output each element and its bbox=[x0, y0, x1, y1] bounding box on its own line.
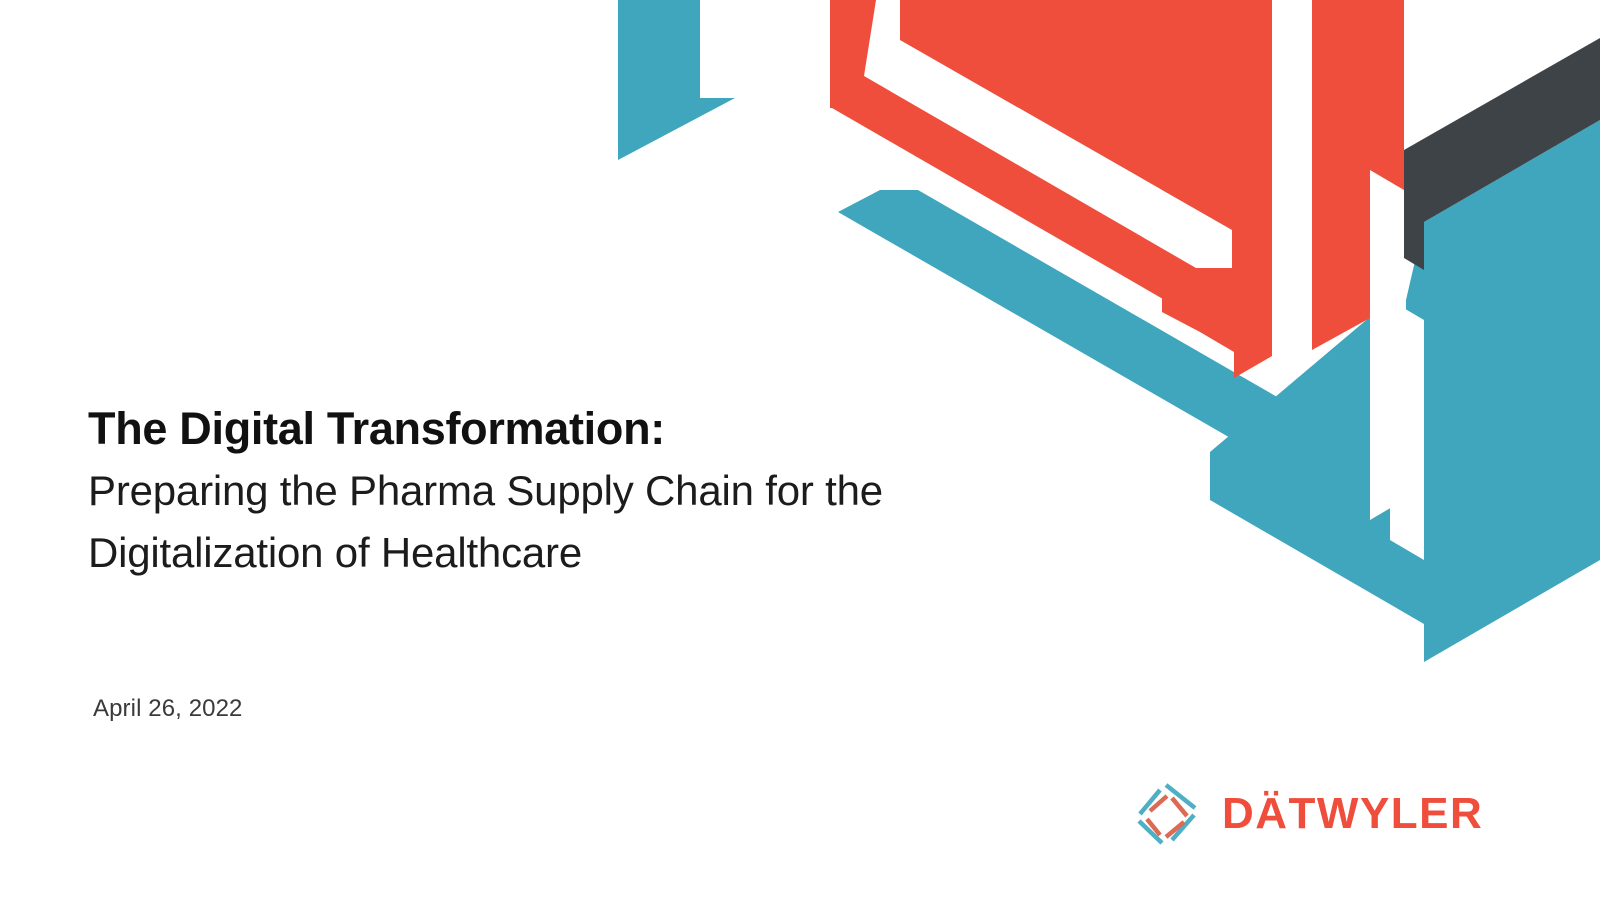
dark-top-face-shape bbox=[1404, 38, 1600, 270]
teal-arrowhead-shape bbox=[618, 0, 735, 160]
logo-wordmark: DÄTWYLER bbox=[1222, 792, 1483, 836]
page-title: The Digital Transformation: bbox=[88, 398, 1048, 460]
red-diagonal-band-lower-shape bbox=[832, 32, 1272, 378]
page-subtitle: Preparing the Pharma Supply Chain for th… bbox=[88, 460, 1028, 584]
red-main-block-shape bbox=[1312, 0, 1404, 350]
white-teal-gap-shape bbox=[1390, 300, 1424, 560]
red-wide-block-shape bbox=[1200, 0, 1272, 352]
teal-right-body-shape bbox=[1406, 120, 1600, 662]
red-upper-head-shape bbox=[830, 0, 1200, 332]
title-block: The Digital Transformation: Preparing th… bbox=[88, 398, 1048, 584]
datwyler-diamond-icon bbox=[1128, 778, 1206, 850]
presentation-slide: The Digital Transformation: Preparing th… bbox=[0, 0, 1600, 900]
brand-logo: DÄTWYLER bbox=[1128, 778, 1483, 850]
white-right-gap-shape bbox=[1370, 170, 1404, 520]
white-separator-stripe-shape bbox=[864, 0, 1232, 268]
teal-lower-wing-shape bbox=[1210, 300, 1424, 624]
white-vertical-gap-shape bbox=[1272, 0, 1312, 372]
slide-date: April 26, 2022 bbox=[93, 695, 243, 723]
red-diagonal-band-upper-shape bbox=[900, 0, 1290, 230]
